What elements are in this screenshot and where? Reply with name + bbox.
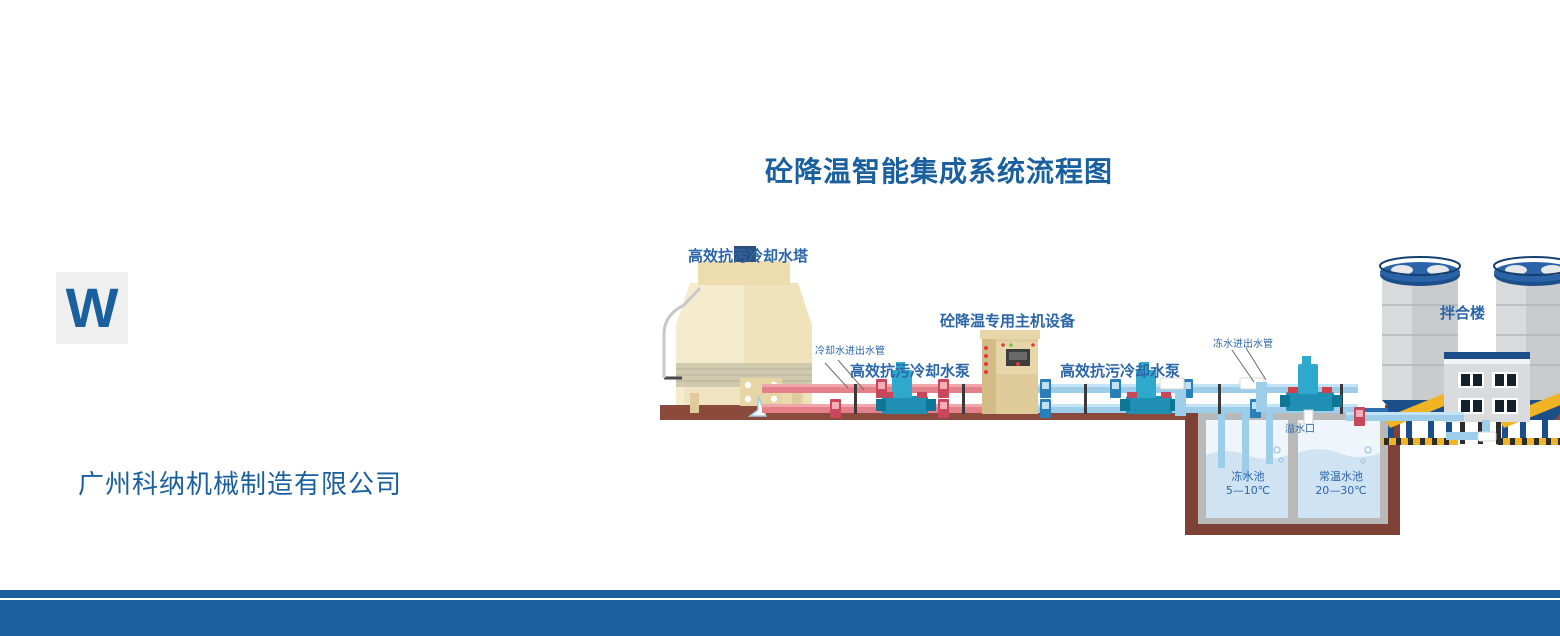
chiller-unit: [980, 330, 1040, 414]
promo-banner: 科纳 KONA W 科纳欢迎您 ELCOME TO KONA 广州科纳机械制造有…: [0, 0, 1560, 636]
label-cooling-pump-right: 高效抗污冷却水泵: [1060, 360, 1180, 381]
welcome-headline-en: ELCOME TO KONA: [150, 330, 391, 359]
label-mixing-plant: 拌合楼: [1440, 302, 1485, 323]
label-overflow-port: 溢水口: [1285, 420, 1315, 435]
label-pool-ambient: 常温水池 20—30℃: [1308, 470, 1374, 498]
welcome-headline-cn: 科纳欢迎您: [150, 272, 391, 322]
welcome-badge: W: [56, 272, 128, 344]
kona-logo[interactable]: 科纳 KONA: [56, 162, 276, 226]
label-pool-chilled: 冻水池 5—10℃: [1218, 470, 1278, 498]
welcome-block: W 科纳欢迎您 ELCOME TO KONA: [56, 272, 391, 359]
mixing-plant: [1346, 257, 1560, 445]
pool-name: 常温水池: [1308, 470, 1374, 484]
pool-temp: 20—30℃: [1308, 484, 1374, 498]
ground-profile: [660, 405, 1560, 535]
diagram-illustration: [640, 120, 1560, 550]
divider-rule: [56, 415, 134, 420]
plant-building: [1444, 352, 1530, 444]
label-cooling-water-pipes: 冷却水进出水管: [815, 342, 885, 357]
label-chilled-water-pipes: 冻水进出水管: [1213, 335, 1273, 350]
label-cooling-tower: 高效抗污冷却水塔: [688, 245, 808, 266]
label-cooling-pump-left: 高效抗污冷却水泵: [850, 360, 970, 381]
bottom-blue-strip: [0, 590, 1560, 636]
company-name-badge: 广州科纳机械制造有限公司: [56, 455, 424, 510]
pool-temp: 5—10℃: [1218, 484, 1278, 498]
bottom-hairline: [0, 598, 1560, 600]
label-chiller-unit: 砼降温专用主机设备: [940, 310, 1075, 331]
logo-en-text: KONA: [206, 209, 247, 225]
pool-name: 冻水池: [1218, 470, 1278, 484]
logo-cn-text: 科纳: [184, 173, 256, 213]
process-flow-diagram: 砼降温智能集成系统流程图: [640, 120, 1560, 550]
